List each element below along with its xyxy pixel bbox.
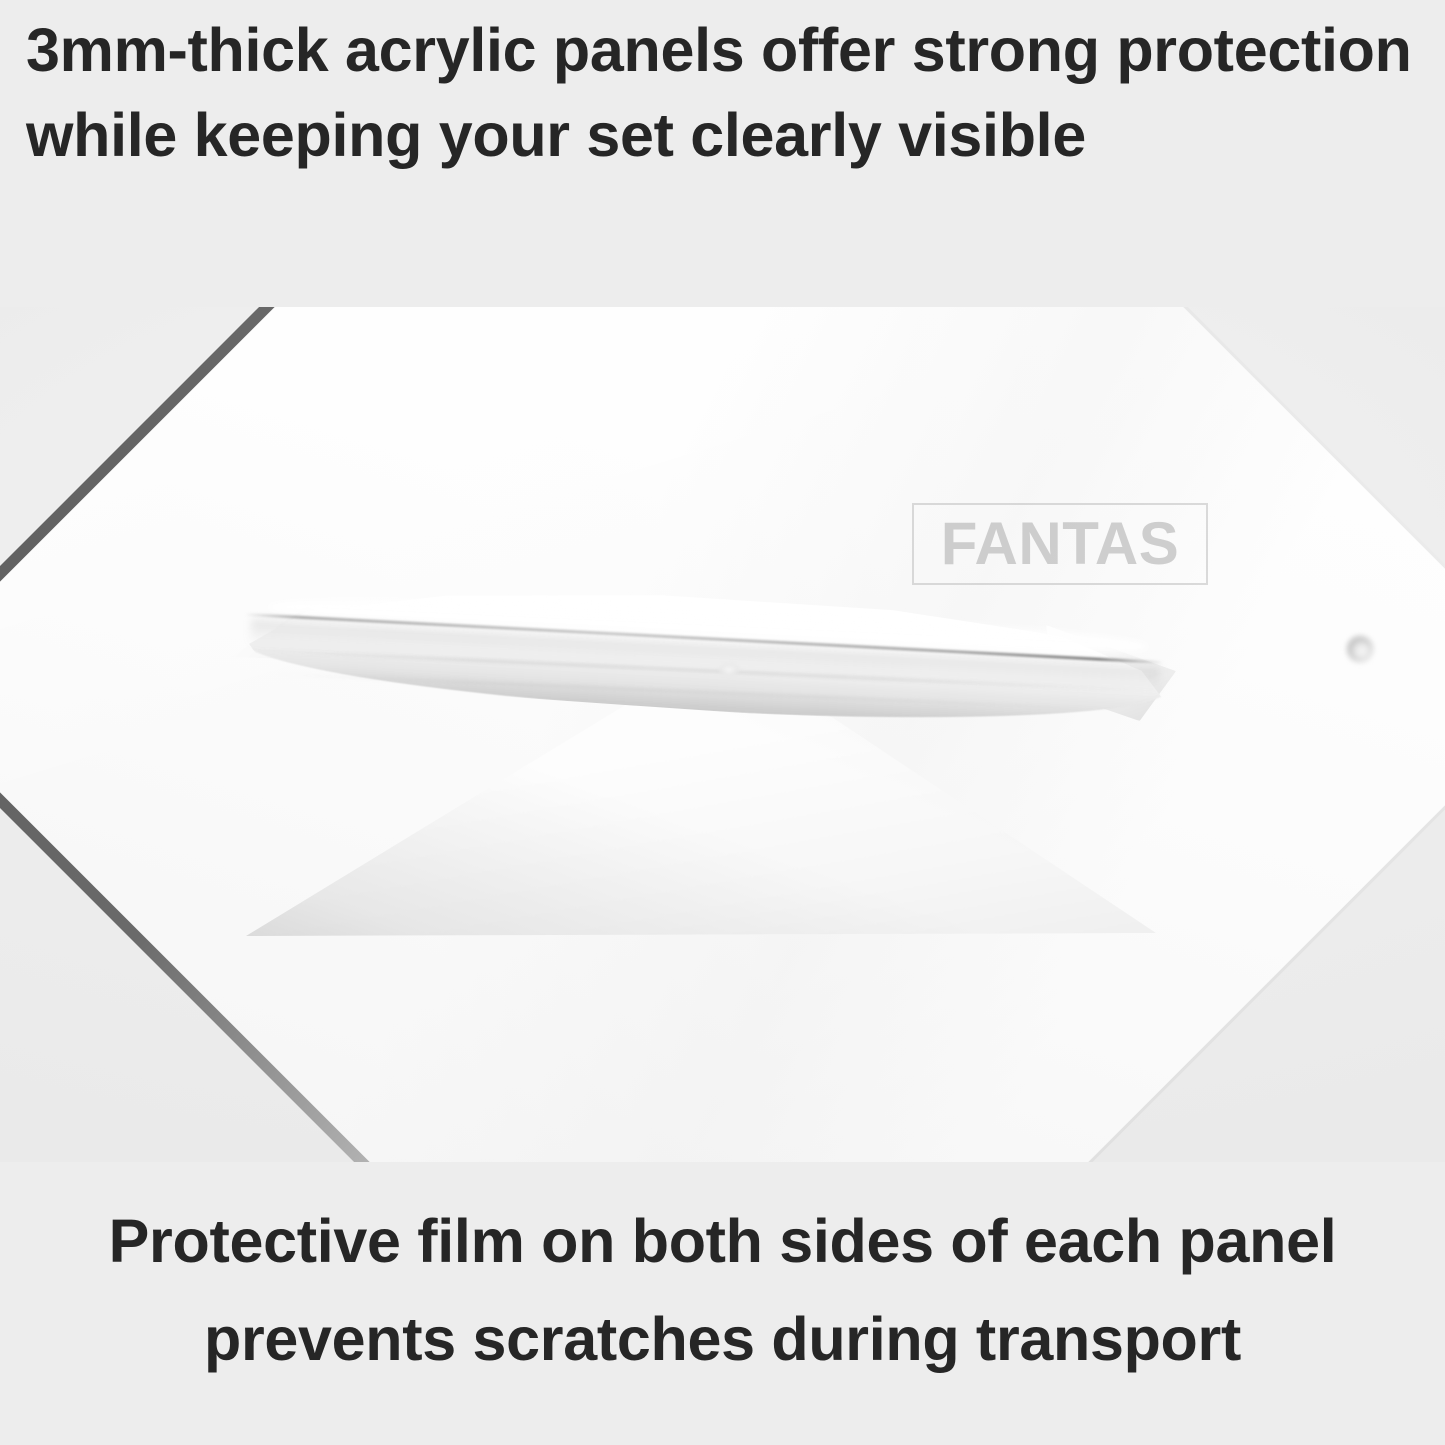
caption-text: Protective film on both sides of each pa… bbox=[0, 1192, 1445, 1388]
mounting-hole-apex bbox=[718, 663, 740, 677]
headline-text: 3mm-thick acrylic panels offer strong pr… bbox=[0, 0, 1445, 178]
mounting-hole-top-right bbox=[1347, 636, 1373, 662]
watermark-box: FANTAS bbox=[912, 503, 1208, 585]
product-feature-image: 3mm-thick acrylic panels offer strong pr… bbox=[0, 0, 1445, 1445]
product-photo: FANTAS bbox=[0, 307, 1445, 1162]
watermark-label: FANTAS bbox=[941, 514, 1180, 574]
